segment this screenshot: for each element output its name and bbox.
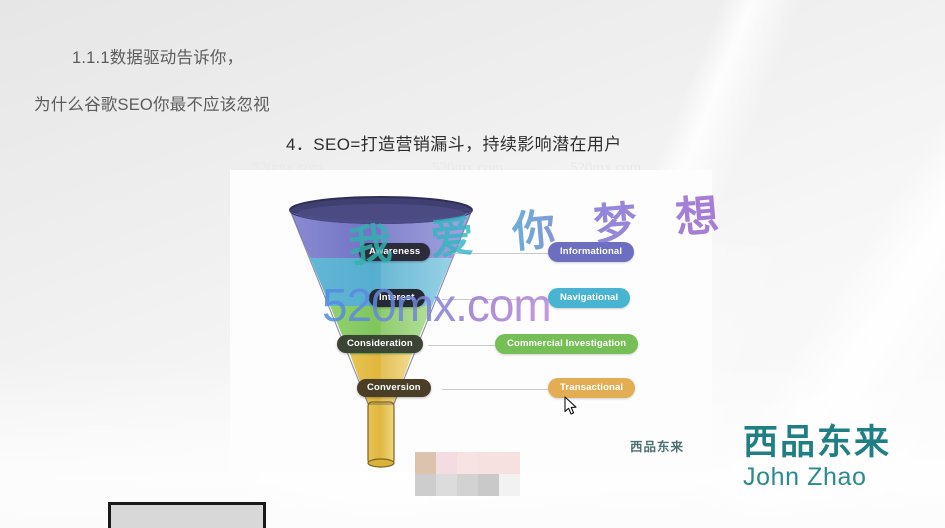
presenter-brand: 西品东来 John Zhao [743,426,891,492]
connector-line [442,253,552,254]
presenter-brand-chinese: 西品东来 [743,426,891,462]
chapter-heading-line-2: 为什么谷歌SEO你最不应该忽视 [34,94,454,117]
connector-line [428,345,500,346]
connector-line [442,389,552,390]
connector-line [442,299,552,300]
slide-title: 4．SEO=打造营销漏斗，持续影响潜在用户 [286,130,622,155]
funnel-stage-conversion: Conversion [357,379,431,397]
panel-brand-mark: 西品东来 [630,436,684,455]
content-panel: Awareness Interest Consideration Convers… [230,170,712,472]
chapter-heading: 1.1.1数据驱动告诉你， 为什么谷歌SEO你最不应该忽视 [34,24,454,141]
mosaic-cell [457,474,478,496]
funnel-stage-awareness: Awareness [359,243,430,261]
mosaic-cell [499,452,520,474]
mosaic-cell [499,474,520,496]
mosaic-cell [478,474,499,496]
intent-pill-commercial-investigation: Commercial Investigation [495,334,638,354]
chapter-heading-line-1: 1.1.1数据驱动告诉你， [34,47,454,70]
intent-pill-informational: Informational [548,242,634,262]
intent-pill-navigational: Navigational [548,288,630,308]
mouse-cursor [564,396,578,416]
funnel-stage-consideration: Consideration [337,335,423,353]
slide-canvas: 1.1.1数据驱动告诉你， 为什么谷歌SEO你最不应该忽视 4．SEO=打造营销… [0,0,945,528]
mosaic-cell [436,452,457,474]
mosaic-row-bottom [415,474,520,496]
mosaic-cell [478,452,499,474]
marketing-funnel-graphic [276,192,486,472]
mosaic-row-top [415,452,520,474]
bottom-framed-box [108,502,266,528]
intent-pill-transactional: Transactional [548,378,635,398]
mosaic-cell [415,474,436,496]
mosaic-cell [436,474,457,496]
mosaic-cell [415,452,436,474]
presenter-brand-english: John Zhao [743,463,891,492]
mosaic-cell [457,452,478,474]
funnel-stage-interest: Interest [369,289,425,307]
censored-mosaic-block [415,452,520,496]
